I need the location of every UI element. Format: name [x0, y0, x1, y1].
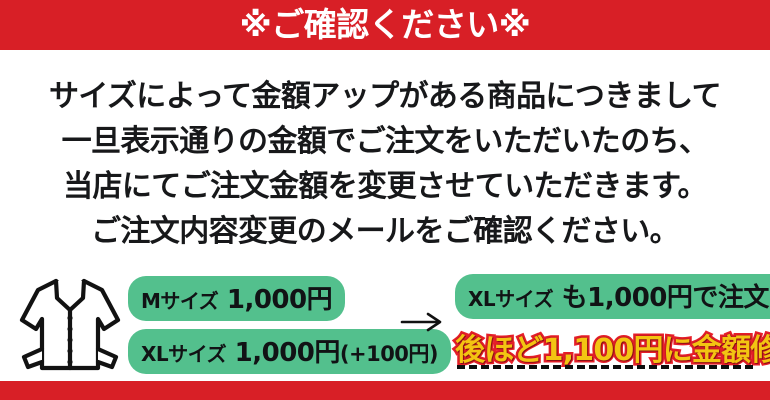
- body-line-3: 当店にてご注文金額を変更させていただきます。: [0, 164, 770, 209]
- price-comparison-row: Mサイズ 1,000円 XLサイズ 1,000円(+100円) XLサイズ も1…: [0, 266, 770, 378]
- xl-size-surcharge: (+100円): [340, 342, 438, 366]
- xl-order-label: XLサイズ: [468, 287, 553, 311]
- after-prices-group: XLサイズ も1,000円で注文！ 後ほど1,100円に金額修正: [455, 274, 755, 371]
- xl-order-amount: も1,000円で注文: [562, 283, 769, 313]
- body-line-2: 一旦表示通りの金額でご注文をいただいたのち、: [0, 119, 770, 164]
- xl-size-amount: 1,000円: [235, 338, 340, 368]
- bottom-red-band: [0, 381, 770, 400]
- correction-underline: [457, 365, 753, 369]
- body-line-1: サイズによって金額アップがある商品につきまして: [0, 74, 770, 119]
- correction-note: 後ほど1,100円に金額修正: [455, 325, 755, 369]
- xl-size-label: XLサイズ: [141, 342, 226, 366]
- page-title: ※ご確認ください※: [0, 0, 770, 50]
- notice-body: サイズによって金額アップがある商品につきまして 一旦表示通りの金額でご注文をいた…: [0, 74, 770, 254]
- price-pill-m-size: Mサイズ 1,000円: [128, 276, 345, 321]
- m-size-amount: 1,000円: [227, 285, 332, 315]
- price-pill-xl-size: XLサイズ 1,000円(+100円): [128, 329, 451, 374]
- dress-shirt-icon: [16, 272, 124, 376]
- right-arrow-icon: [400, 310, 444, 334]
- before-prices-group: Mサイズ 1,000円 XLサイズ 1,000円(+100円): [128, 276, 390, 374]
- notice-banner: ※ご確認ください※ サイズによって金額アップがある商品につきまして 一旦表示通り…: [0, 0, 770, 400]
- m-size-label: Mサイズ: [141, 289, 218, 313]
- body-line-4: ご注文内容変更のメールをご確認ください。: [0, 209, 770, 254]
- correction-note-wrap: 後ほど1,100円に金額修正: [455, 325, 755, 371]
- price-pill-xl-order: XLサイズ も1,000円で注文！: [455, 274, 770, 319]
